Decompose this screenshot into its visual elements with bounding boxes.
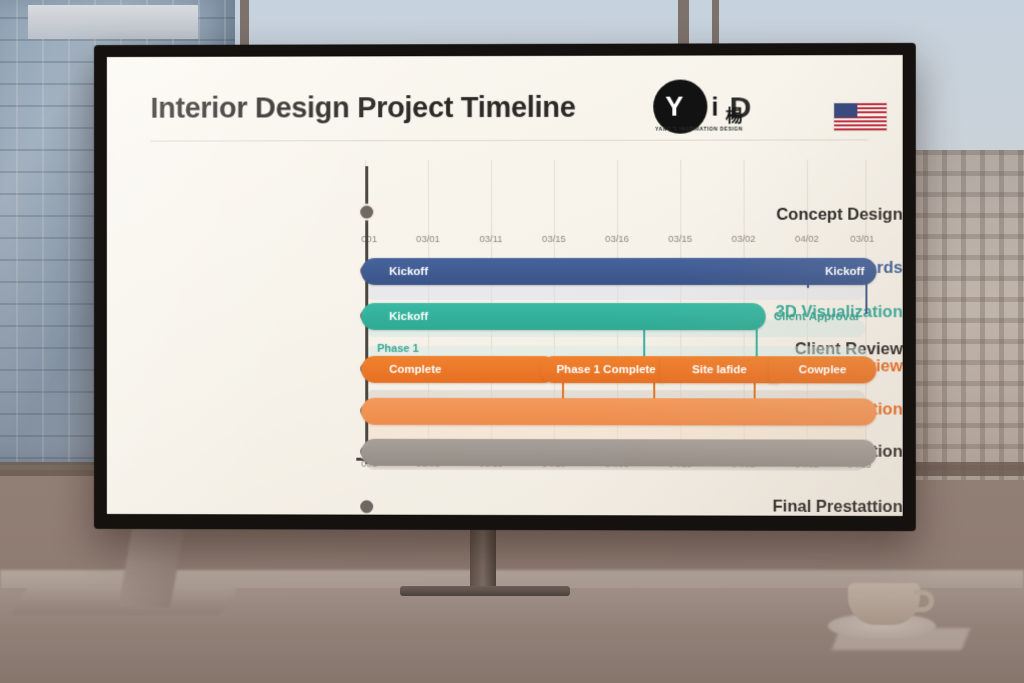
flag-canton [834,103,857,117]
axis-tick: 03/16 [605,234,629,245]
axis-tick: 03/15 [668,234,692,245]
axis-tick: 03/01 [850,234,874,245]
gantt-bar-construction[interactable] [361,439,876,467]
logo-i-glyph: i [711,94,718,123]
milestone-node-final-presentation[interactable] [358,498,375,515]
axis-tick: 04/02 [795,234,819,245]
monitor-stand-base [400,586,570,596]
bar-label-left: Kickoff [389,266,428,278]
axis-ticks-top: 001 03/01 03/11 03/15 03/16 03/15 03/02 … [355,234,874,248]
gantt-bar-mood-boards[interactable]: Kickoff Kickoff [361,258,876,285]
gantt-plot-area: 001 03/01 03/11 03/15 03/16 03/15 03/02 … [355,159,874,490]
gantt-segment-complete-end[interactable]: Cowplee [769,356,877,383]
gantt-segment-phase-1-complete[interactable]: Phase 1 Complete [540,356,672,383]
bar-label: Phase 1 Complete [556,364,655,376]
gantt-segment-site-lafide[interactable]: Site lafide [660,356,779,383]
gantt-bar-3d-visualization[interactable]: Kickoff [361,303,765,330]
axis-tick: 03/11 [479,234,502,245]
bar-label-client-approval: Client Approval [774,311,859,323]
title-divider [150,139,868,141]
axis-tick: 001 [361,234,377,245]
gantt-segment-complete[interactable]: Complete [361,356,557,383]
milestone-node-concept-design[interactable] [358,204,375,221]
bar-label-right: Kickoff [825,265,864,277]
company-logo: Y i D 楊 YANG'S INSPIRATION DESIGN [653,79,770,135]
wall-monitor: Interior Design Project Timeline Y i D 楊… [94,43,916,531]
coffee-cup [848,583,920,625]
ghost-band [365,283,865,300]
axis-tick: 03/01 [416,234,440,245]
bar-label: Complete [389,363,441,375]
page-title: Interior Design Project Timeline [150,92,575,126]
logo-cjk-glyph: 楊 [726,101,743,126]
bar-label: Site lafide [692,364,747,376]
row-label-final-presentation: Final Prestattion [661,497,902,516]
axis-tick: 03/02 [732,234,756,245]
bar-label-left: Kickoff [389,310,428,322]
tower-rooftop [28,5,198,39]
axis-tick: 03/15 [542,234,566,245]
logo-caption: YANG'S INSPIRATION DESIGN [655,126,788,132]
logo-y-glyph: Y [665,93,695,123]
phase-1-label: Phase 1 [377,343,418,355]
gantt-bar-material-selection[interactable] [361,398,876,426]
bar-label: Cowplee [799,364,847,376]
gantt-chart: Concept Design Mood Boards 3D Visualizat… [107,159,903,490]
us-flag-icon [834,103,886,130]
monitor-stand-neck [470,528,496,590]
presentation-slide: Interior Design Project Timeline Y i D 楊… [107,55,903,516]
